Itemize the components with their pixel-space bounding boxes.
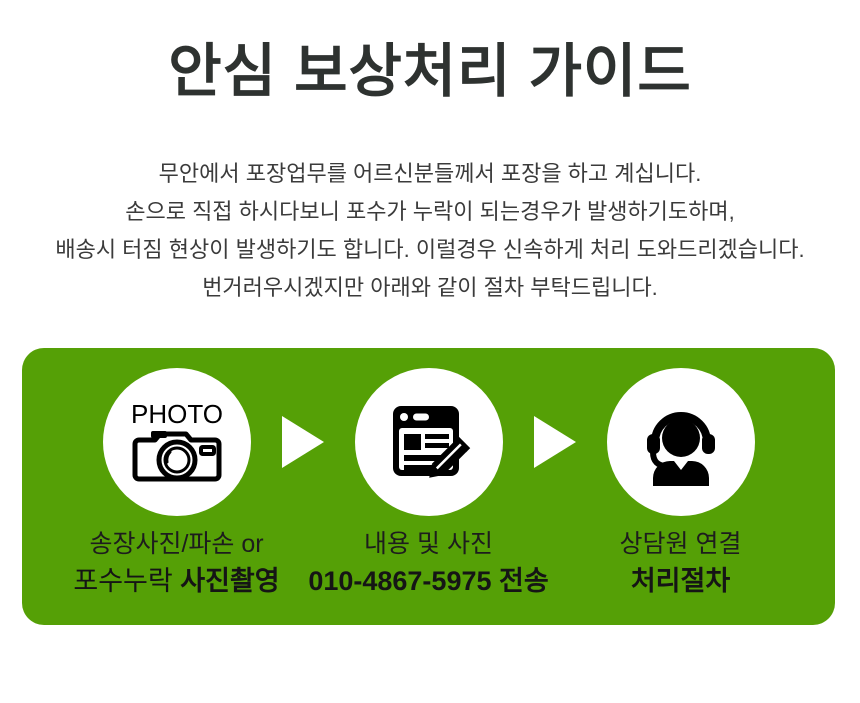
triangle-right-icon-1 <box>279 416 327 468</box>
step-circle-agent[interactable] <box>607 368 755 516</box>
caption-photo-line2-normal: 포수누락 <box>73 566 180 596</box>
caption-photo: 송장사진/파손 or 포수누락 사진촬영 <box>103 526 251 600</box>
process-panel: PHOTO <box>22 348 835 625</box>
process-steps-row: PHOTO <box>22 362 835 522</box>
caption-photo-line2-strong: 사진촬영 <box>180 566 279 596</box>
headset-agent-icon <box>629 390 733 494</box>
intro-line-2: 손으로 직접 하시다보니 포수가 누락이 되는경우가 발생하기도하며, <box>0 193 860 231</box>
triangle-right-icon-2 <box>531 416 579 468</box>
intro-line-4: 번거러우시겠지만 아래와 같이 절차 부탁드립니다. <box>0 269 860 307</box>
caption-agent-line2-strong: 처리절차 <box>631 566 730 596</box>
intro-line-1: 무안에서 포장업무를 어르신분들께서 포장을 하고 계십니다. <box>0 155 860 193</box>
camera-photo-icon: PHOTO <box>125 390 229 494</box>
caption-agent: 상담원 연결 처리절차 <box>607 526 755 600</box>
page-title: 안심 보상처리 가이드 <box>0 42 860 103</box>
camera-photo-icon-label: PHOTO <box>131 399 223 429</box>
caption-agent-line1: 상담원 연결 <box>531 526 831 562</box>
caption-document: 내용 및 사진 010-4867-5975 전송 <box>355 526 503 600</box>
caption-agent-line2: 처리절차 <box>531 562 831 600</box>
step-circle-photo[interactable]: PHOTO <box>103 368 251 516</box>
step-circle-document[interactable] <box>355 368 503 516</box>
process-captions-row: 송장사진/파손 or 포수누락 사진촬영 내용 및 사진 010-4867-59… <box>22 526 835 622</box>
intro-line-3: 배송시 터짐 현상이 발생하기도 합니다. 이럴경우 신속하게 처리 도와드리겠… <box>0 231 860 269</box>
document-pencil-icon <box>377 390 481 494</box>
caption-document-line2-strong: 010-4867-5975 전송 <box>308 566 548 596</box>
infographic-page: 안심 보상처리 가이드 무안에서 포장업무를 어르신분들께서 포장을 하고 계십… <box>0 0 860 703</box>
intro-paragraph: 무안에서 포장업무를 어르신분들께서 포장을 하고 계십니다. 손으로 직접 하… <box>0 155 860 307</box>
